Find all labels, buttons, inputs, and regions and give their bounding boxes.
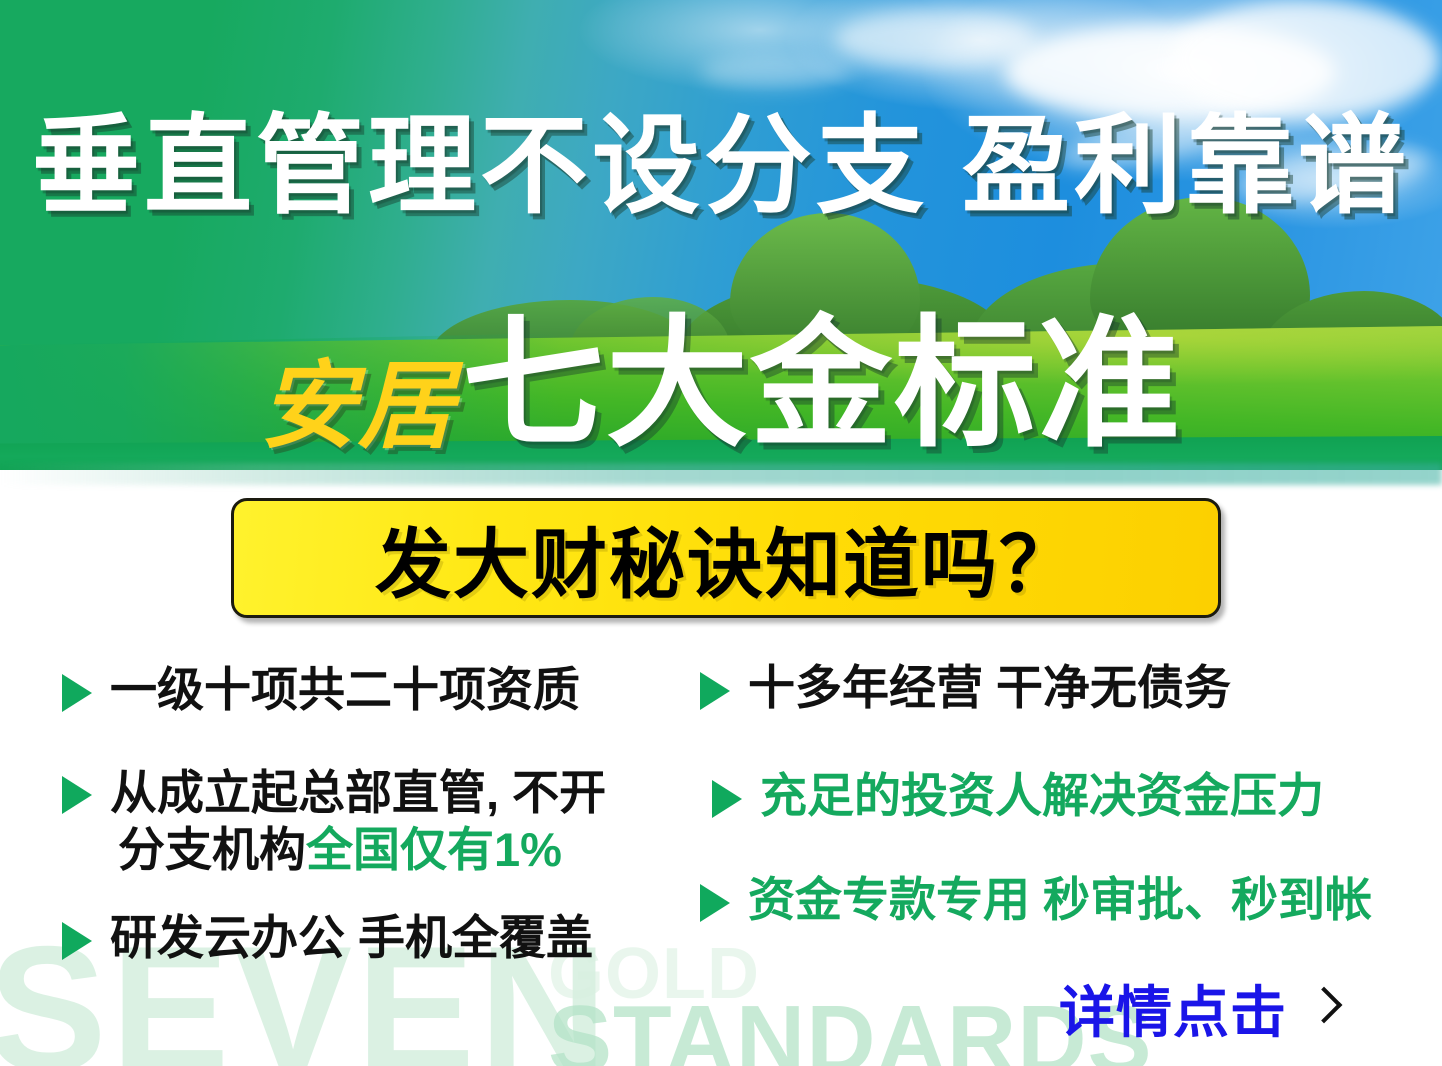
cloud-shape xyxy=(1170,0,1440,120)
feature-item-line2-black: 分支机构 xyxy=(118,823,306,876)
feature-item-no-debt: 十多年经营 干净无债务 xyxy=(700,660,1231,715)
highlight-banner[interactable]: 发大财秘诀知道吗？ xyxy=(231,498,1221,618)
feature-item-text: 充足的投资人解决资金压力 xyxy=(760,768,1324,823)
feature-item-dedicated-funds: 资金专款专用 秒审批、秒到帐 xyxy=(700,872,1372,927)
chevron-right-icon xyxy=(1309,988,1335,1030)
hero-subtitle: 安居七大金标准 xyxy=(0,268,1442,470)
hero-banner: 垂直管理不设分支 盈利靠谱 安居七大金标准 xyxy=(0,0,1442,470)
feature-item-text: 一级十项共二十项资质 xyxy=(110,662,580,717)
feature-item-investors: 充足的投资人解决资金压力 xyxy=(712,768,1324,823)
cloud-shape xyxy=(700,55,850,89)
feature-item-text: 十多年经营 干净无债务 xyxy=(748,660,1231,715)
hero-subtitle-brand: 安居 xyxy=(260,353,456,460)
highlight-banner-text: 发大财秘诀知道吗？ xyxy=(375,503,1077,613)
feature-list: 一级十项共二十项资质 从成立起总部直管, 不开 分支机构全国仅有1% 研发云办公… xyxy=(0,660,1442,990)
triangle-bullet-icon xyxy=(62,776,92,814)
triangle-bullet-icon xyxy=(712,780,742,818)
feature-item-text: 从成立起总部直管, 不开 分支机构全国仅有1% xyxy=(110,764,606,879)
hero-subtitle-main: 七大金标准 xyxy=(462,305,1182,464)
feature-item-qualifications: 一级十项共二十项资质 xyxy=(62,662,580,717)
triangle-bullet-icon xyxy=(62,674,92,712)
hero-bottom-shadow xyxy=(0,463,1442,485)
triangle-bullet-icon xyxy=(700,672,730,710)
feature-item-cloud-office: 研发云办公 手机全覆盖 xyxy=(62,910,593,965)
feature-item-text: 资金专款专用 秒审批、秒到帐 xyxy=(748,872,1372,927)
feature-item-text: 研发云办公 手机全覆盖 xyxy=(110,910,593,965)
cloud-shape xyxy=(835,10,1035,68)
details-cta-label: 详情点击 xyxy=(1059,968,1287,1049)
feature-item-line2: 分支机构全国仅有1% xyxy=(118,821,606,878)
hero-headline: 垂直管理不设分支 盈利靠谱 xyxy=(0,112,1442,220)
feature-item-line2-highlight: 全国仅有1% xyxy=(306,823,562,876)
details-cta-button[interactable]: 详情点击 xyxy=(1059,968,1335,1049)
triangle-bullet-icon xyxy=(62,922,92,960)
feature-item-direct-management: 从成立起总部直管, 不开 分支机构全国仅有1% xyxy=(62,764,606,879)
triangle-bullet-icon xyxy=(700,884,730,922)
feature-item-line1: 从成立起总部直管, 不开 xyxy=(110,766,606,819)
